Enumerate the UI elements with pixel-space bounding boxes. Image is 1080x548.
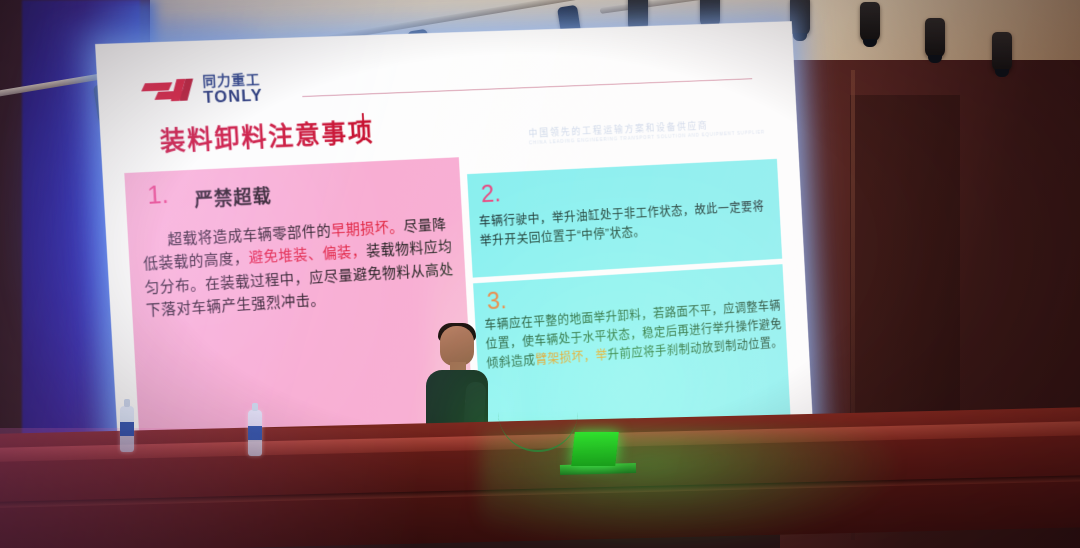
- panel-2-body: 车辆行驶中，举升油缸处于非工作状态，故此一定要将举升开关回位置于“中停”状态。: [478, 196, 775, 249]
- water-bottle: [120, 406, 134, 452]
- panel-1-number: 1.: [146, 179, 169, 211]
- spotlight-icon: [992, 32, 1012, 72]
- presenter-head: [440, 326, 474, 366]
- company-logo: 同力重工 TONLY: [142, 72, 263, 108]
- panel-3-number: 3.: [486, 285, 507, 316]
- header-rule: [302, 78, 752, 97]
- panel-1-heading: 严禁超载: [194, 182, 273, 212]
- laptop-screen: [571, 432, 619, 466]
- panel-1-line-2: 早期损坏。: [331, 219, 404, 239]
- logo-english-name: TONLY: [203, 87, 263, 106]
- water-bottle: [248, 410, 262, 456]
- tonly-logo-icon: [143, 77, 197, 105]
- content-panel-2: 2. 车辆行驶中，举升油缸处于非工作状态，故此一定要将举升开关回位置于“中停”状…: [467, 159, 782, 278]
- conference-hall-photo: 同力重工 TONLY 装料卸料注意事项 中国领先的工程运输方案和设备供应商 CH…: [0, 0, 1080, 548]
- panel-3-line-4: 臂架损坏，举: [535, 347, 608, 366]
- slide-title: 装料卸料注意事项: [159, 113, 375, 159]
- panel-1-body: 超载将造成车辆零部件的早期损坏。尽量降低装载的高度，避免堆装、偏装，装载物料应均…: [141, 213, 459, 322]
- panel-1-line-4: 避免堆装、偏装，: [248, 244, 366, 267]
- panel-2-number: 2.: [480, 178, 501, 209]
- panel-1-line-1: 超载将造成车辆零部件的: [167, 223, 332, 249]
- panel-3-body: 车辆应在平整的地面举升卸料，若路面不平，应调整车辆位置，使车辆处于水平状态，稳定…: [484, 296, 784, 373]
- spotlight-icon: [925, 18, 945, 58]
- panel-2-line-1: 车辆行驶中，举升油缸处于非工作状态，故此: [478, 201, 718, 228]
- spotlight-icon: [860, 2, 880, 42]
